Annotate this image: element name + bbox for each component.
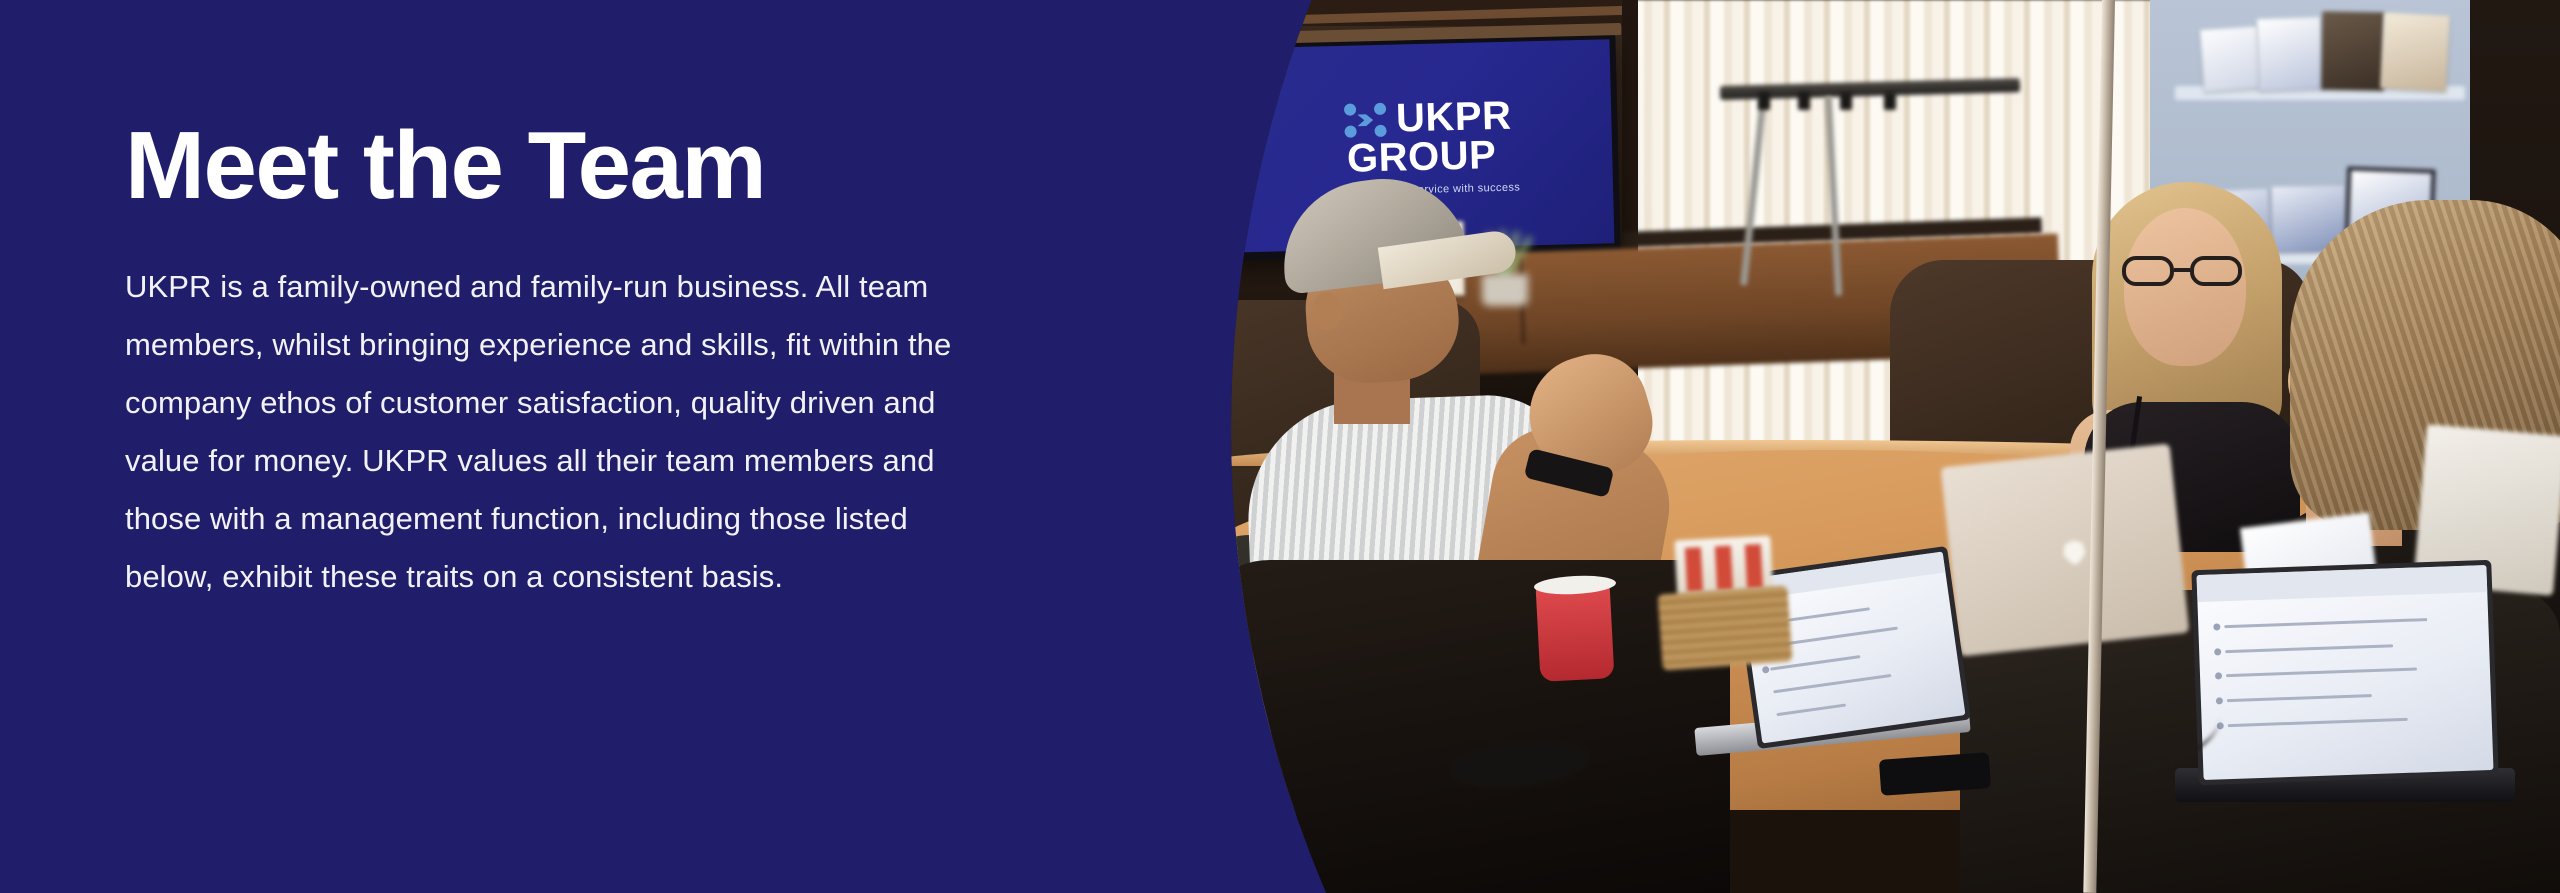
hero-copy-block: Meet the Team UKPR is a family-owned and…	[125, 118, 1025, 606]
macbook-laptop	[1941, 443, 2190, 656]
table-clip	[1798, 92, 1810, 110]
brochure	[2380, 12, 2450, 91]
ukpr-nodes-icon	[1344, 103, 1387, 138]
table-clip	[1758, 92, 1770, 110]
tv-brand-line-1: UKPR	[1396, 98, 1512, 138]
smartphone	[1879, 752, 1991, 796]
team-photo: UKPR GROUP Connecting service with succe…	[1190, 0, 2560, 893]
wicker-basket	[1658, 586, 1793, 671]
table-clip	[1840, 92, 1852, 110]
ear	[1312, 292, 1342, 330]
office-chair-left	[1190, 560, 1730, 893]
brochure	[2257, 17, 2323, 91]
meet-the-team-hero: Meet the Team UKPR is a family-owned and…	[0, 0, 2560, 893]
apple-logo-icon	[2061, 537, 2088, 565]
hero-description: UKPR is a family-owned and family-run bu…	[125, 258, 995, 606]
page-title: Meet the Team	[125, 118, 1025, 214]
table-clip	[1884, 92, 1896, 110]
tv-brand-line-2: GROUP	[1347, 136, 1497, 179]
team-photo-scene: UKPR GROUP Connecting service with succe…	[1190, 0, 2560, 893]
brochure	[2321, 11, 2384, 90]
laptop-display	[2197, 565, 2494, 780]
red-cup	[1536, 582, 1615, 682]
laptop-screen-right	[2191, 560, 2498, 785]
eyeglasses-icon	[2122, 256, 2250, 286]
brochure	[2200, 26, 2262, 92]
face	[2124, 208, 2246, 366]
